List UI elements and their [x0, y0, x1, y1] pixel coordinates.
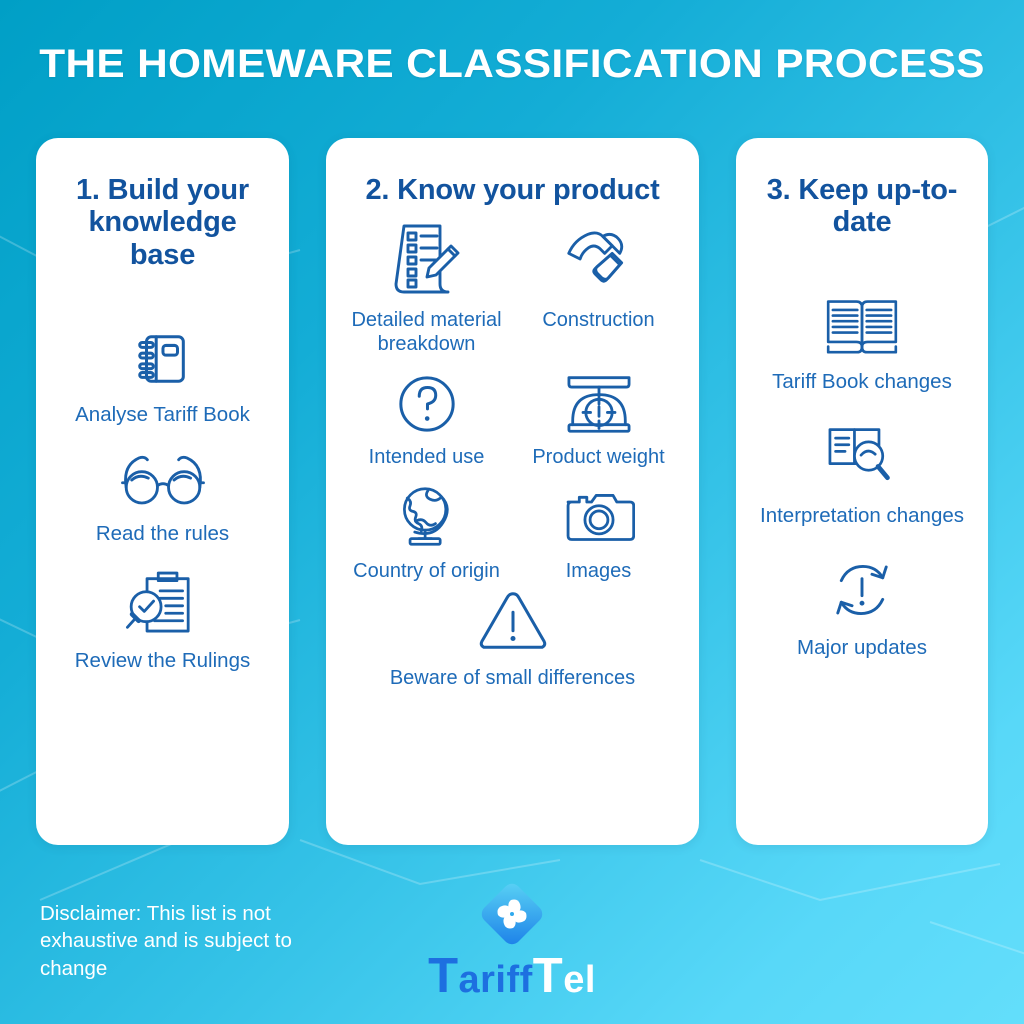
card-column-1: 1. Build your knowledge base Analyse Tar… [36, 138, 289, 845]
column-3-title: 3. Keep up-to-date [736, 138, 988, 239]
column-2-row-2: Intended use [326, 373, 699, 469]
warning-triangle-icon [474, 586, 552, 656]
book-magnifier-icon [824, 424, 900, 490]
tarifftel-wordmark: T ariff T el [428, 952, 596, 1001]
item-interpretation-changes[interactable]: Interpretation changes [760, 424, 964, 528]
item-analyse-tariff-book[interactable]: Analyse Tariff Book [75, 328, 250, 427]
logo-t2: T [533, 952, 563, 1001]
card-column-3: 3. Keep up-to-date Tariff Book changes [736, 138, 988, 845]
item-label: Images [566, 559, 632, 583]
column-2-title: 2. Know your product [326, 138, 699, 206]
card-column-2: 2. Know your product Detailed m [326, 138, 699, 845]
item-label: Detailed material breakdown [341, 308, 513, 357]
logo-el: el [563, 961, 596, 999]
hammer-icon [561, 220, 637, 298]
item-label: Beware of small differences [390, 666, 635, 690]
column-3-items: Tariff Book changes Interpretation chang… [736, 294, 988, 660]
item-label: Tariff Book changes [772, 369, 952, 394]
column-1-title: 1. Build your knowledge base [36, 138, 289, 271]
item-label: Major updates [797, 635, 927, 660]
glasses-icon [117, 451, 209, 509]
item-label: Interpretation changes [760, 503, 964, 528]
logo-t1: T [428, 952, 458, 1001]
open-book-icon [823, 294, 901, 356]
item-detailed-material-breakdown[interactable]: Detailed material breakdown [341, 220, 513, 357]
item-intended-use[interactable]: Intended use [341, 373, 513, 469]
globe-stand-icon [394, 485, 460, 549]
page-title: THE HOMEWARE CLASSIFICATION PROCESS [0, 42, 1024, 87]
column-2-row-1: Detailed material breakdown Construction [326, 220, 699, 357]
item-label: Country of origin [353, 559, 500, 583]
item-major-updates[interactable]: Major updates [797, 558, 927, 660]
column-1-items: Analyse Tariff Book Read the rules [36, 328, 289, 673]
item-product-weight[interactable]: Product weight [513, 373, 685, 469]
question-circle-icon [396, 373, 458, 435]
item-read-the-rules[interactable]: Read the rules [96, 451, 229, 546]
tarifftel-logo[interactable]: T ariff T el [0, 880, 1024, 1001]
checklist-pencil-icon [390, 220, 464, 298]
tarifftel-flower-diamond-icon [478, 880, 546, 948]
item-label: Read the rules [96, 521, 229, 546]
item-tariff-book-changes[interactable]: Tariff Book changes [772, 294, 952, 394]
logo-ariff: ariff [459, 961, 533, 999]
item-label: Intended use [369, 445, 485, 469]
refresh-exclamation-icon [830, 558, 894, 622]
notebook-icon [131, 328, 193, 390]
column-2-row-3: Country of origin Images [326, 485, 699, 583]
item-review-the-rulings[interactable]: Review the Rulings [75, 570, 250, 673]
column-2-items: Detailed material breakdown Construction [326, 220, 699, 690]
item-label: Construction [542, 308, 654, 332]
camera-icon [563, 485, 635, 549]
item-label: Product weight [532, 445, 664, 469]
kitchen-scale-icon [563, 373, 635, 435]
item-images[interactable]: Images [513, 485, 685, 583]
item-construction[interactable]: Construction [513, 220, 685, 332]
item-label: Review the Rulings [75, 648, 250, 673]
item-label: Analyse Tariff Book [75, 402, 250, 427]
clipboard-magnifier-check-icon [119, 570, 205, 636]
item-country-of-origin[interactable]: Country of origin [341, 485, 513, 583]
item-beware-of-small-differences[interactable]: Beware of small differences [326, 586, 699, 690]
